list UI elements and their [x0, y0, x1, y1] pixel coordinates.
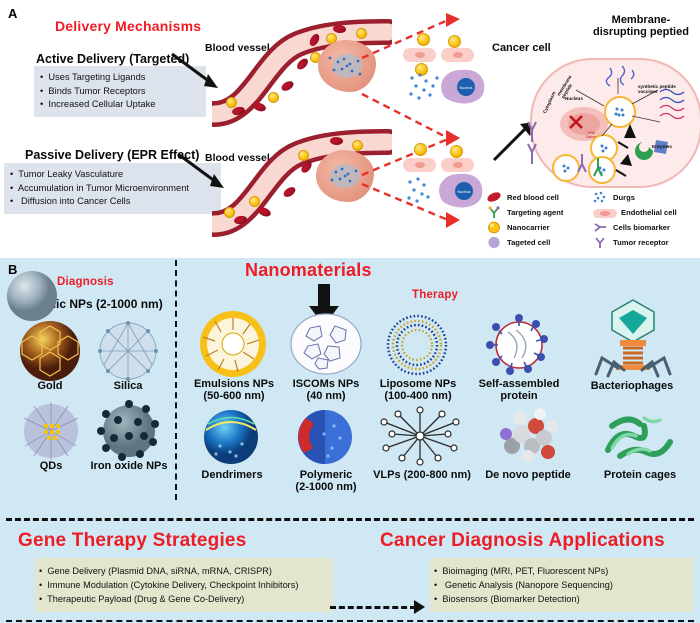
cancer-diagnosis-title: Cancer Diagnosis Applications	[380, 530, 665, 552]
targeted-cell: Nucleus	[436, 62, 488, 108]
red-blood-cell-icon	[486, 191, 504, 204]
svg-text:Nucleus: Nucleus	[458, 190, 471, 194]
bullet-text: Bioimaging (MRI, PET, Fluorescent NPs)	[442, 566, 608, 576]
enzymes-label: Enzymes	[652, 144, 672, 149]
caption-line1: Liposome NPs	[380, 378, 456, 390]
legend-label: Nanocarrier	[507, 223, 550, 232]
inorganic-np-sphere	[6, 270, 58, 327]
nanocarrier	[224, 207, 235, 218]
panel-a: A Delivery Mechanisms Active Delivery (T…	[0, 0, 700, 258]
panel-a-letter: A	[8, 6, 17, 21]
bullet-text: Biosensors (Biomarker Detection)	[442, 594, 579, 604]
legend-item: Durgs	[592, 191, 698, 204]
bullet-text: Tumor Leaky Vasculature	[18, 169, 123, 179]
nanocarrier	[450, 145, 463, 158]
caption-line1: Polymeric	[300, 469, 353, 481]
legend-item: Tageted cell	[486, 236, 592, 249]
gene-therapy-bullets: • Gene Delivery (Plasmid DNA, siRNA, mRN…	[35, 558, 333, 612]
legend-row: Tageted cell Tumor receptor	[486, 235, 698, 250]
bullet-item: • Diffusion into Cancer Cells	[10, 195, 215, 209]
panel-divider	[175, 260, 177, 500]
liposome-np-icon	[380, 314, 454, 381]
legend-label: Cells biomarker	[613, 223, 670, 232]
self-assembled-protein-icon	[486, 314, 552, 381]
nanocarrier	[448, 35, 461, 48]
panel-c: Gene Therapy Strategies • Gene Delivery …	[0, 516, 700, 623]
legend-row: Targeting agent Endothelial cell	[486, 205, 698, 220]
qds-np-caption: QDs	[18, 460, 84, 472]
bullet-item: • Gene Delivery (Plasmid DNA, siRNA, mRN…	[39, 564, 329, 578]
cells-biomarker-icon	[592, 221, 610, 234]
endothelial-cell	[441, 48, 474, 62]
caption-line1: ISCOMs NPs	[293, 378, 360, 390]
iron-oxide-np-icon	[96, 400, 162, 467]
bullet-text: Accumulation in Tumor Microenvironment	[18, 183, 189, 193]
passive-delivery-heading: Passive Delivery (EPR Effect)	[25, 148, 199, 162]
bullet-item: • Genetic Analysis (Nanopore Sequencing)	[434, 578, 689, 592]
connector-arrow-head	[414, 600, 425, 614]
nanocarrier	[298, 150, 309, 161]
self-assembled-protein-caption: Self-assembled protein	[470, 378, 568, 402]
dendrimers-icon	[200, 408, 262, 471]
top-divider	[6, 518, 694, 521]
panel-b: B Diagnosis Therapy Nanomaterials Inorga…	[0, 258, 700, 516]
synthetic-peptide-vaccines-label: synthetic peptide vaccines	[638, 84, 686, 94]
legend-label: Tageted cell	[507, 238, 550, 247]
targeting-agent-icon	[486, 206, 504, 219]
qds-np-icon	[18, 400, 84, 467]
silica-np-icon	[94, 320, 162, 387]
vlps-icon	[378, 404, 462, 473]
legend-item: Tumor receptor	[592, 236, 698, 249]
polymeric-np-icon	[294, 408, 356, 471]
bullet-text: Genetic Analysis (Nanopore Sequencing)	[445, 580, 613, 590]
tumor-receptor-icon	[592, 236, 610, 249]
bacteriophages-icon	[592, 296, 674, 383]
panel-a-legend: Red blood cell Durgs Targeting agent	[486, 190, 698, 250]
legend-row: Red blood cell Durgs	[486, 190, 698, 205]
bullet-text: Diffusion into Cancer Cells	[21, 196, 130, 206]
de-novo-peptide-icon	[492, 404, 566, 471]
cancer-cell-label: Cancer cell	[492, 42, 551, 54]
svg-text:Nucleus: Nucleus	[460, 86, 473, 90]
nanocarrier	[417, 33, 430, 46]
drugs-icon	[592, 191, 610, 204]
active-delivery-heading: Active Delivery (Targeted)	[36, 52, 189, 66]
caption-line2: (2-1000 nm)	[295, 481, 356, 493]
legend-item: Red blood cell	[486, 191, 592, 204]
de-novo-peptide-caption: De novo peptide	[470, 469, 586, 481]
caption-line2: (100-400 nm)	[384, 390, 451, 402]
cancer-diagnosis-bullets: • Bioimaging (MRI, PET, Fluorescent NPs)…	[430, 558, 693, 612]
receptor-pair-icon	[572, 152, 612, 184]
emulsions-np-caption: Emulsions NPs (50-600 nm)	[188, 378, 280, 402]
gold-np-icon	[16, 320, 84, 387]
caption-line1: Self-assembled	[479, 378, 560, 390]
nanocarrier	[414, 143, 427, 156]
legend-label: Endothelial cell	[621, 208, 677, 217]
bullet-text: Increased Cellular Uptake	[48, 99, 155, 109]
iron-oxide-np-caption: Iron oxide NPs	[88, 460, 170, 472]
endothelial-cell	[403, 48, 436, 62]
caption-line1: Emulsions NPs	[194, 378, 274, 390]
legend-label: Targeting agent	[507, 208, 563, 217]
nanomaterials-title: Nanomaterials	[245, 260, 372, 281]
bullet-text: Uses Targeting Ligands	[48, 72, 145, 82]
cancer-cell-diagram: Cytoplasm Nucleus DNA Damage	[530, 58, 700, 188]
bottom-divider	[6, 620, 694, 622]
nanocarrier	[226, 97, 237, 108]
bullet-text: Binds Tumor Receptors	[48, 86, 145, 96]
vlps-caption: VLPs (200-800 nm)	[368, 469, 476, 481]
silica-np-caption: Silica	[94, 380, 162, 392]
endothelial-cell	[403, 158, 436, 172]
iscoms-np-caption: ISCOMs NPs (40 nm)	[284, 378, 368, 402]
bullet-item: • Immune Modulation (Cytokine Delivery, …	[39, 578, 329, 592]
gene-therapy-title: Gene Therapy Strategies	[18, 530, 246, 552]
panel-a-title: Delivery Mechanisms	[55, 18, 201, 34]
caption-line2: (50-600 nm)	[203, 390, 264, 402]
nanocarrier	[268, 92, 279, 103]
bullet-item: • Therapeutic Payload (Drug & Gene Co-De…	[39, 592, 329, 606]
legend-item: Cells biomarker	[592, 221, 698, 234]
figure-root: A Delivery Mechanisms Active Delivery (T…	[0, 0, 700, 623]
cell-spokes	[532, 60, 700, 186]
diagnosis-label: Diagnosis	[57, 276, 114, 288]
legend-row: Nanocarrier Cells biomarker	[486, 220, 698, 235]
legend-item: Endothelial cell	[592, 206, 698, 219]
dendrimers-caption: Dendrimers	[186, 469, 278, 481]
therapy-label: Therapy	[412, 289, 458, 301]
protein-cages-caption: Protein cages	[588, 469, 692, 481]
bullet-text: Immune Modulation (Cytokine Delivery, Ch…	[47, 580, 298, 590]
gold-np-caption: Gold	[16, 380, 84, 392]
caption-line2: protein	[500, 390, 537, 402]
nanocarrier	[249, 196, 260, 207]
membrane-peptide-label: Membrane-disrupting peptied	[585, 14, 697, 38]
endothelial-cell-icon	[592, 206, 618, 219]
connector-dashed-line	[330, 606, 416, 609]
legend-item: Nanocarrier	[486, 221, 592, 234]
bullet-item: • Increased Cellular Uptake	[40, 98, 200, 112]
liposome-np-caption: Liposome NPs (100-400 nm)	[372, 378, 464, 402]
protein-cages-icon	[598, 404, 678, 471]
caption-line2: (40 nm)	[306, 390, 345, 402]
tumor-receptor-icon	[522, 118, 544, 168]
iscoms-np-icon	[288, 312, 364, 381]
bullet-text: Gene Delivery (Plasmid DNA, siRNA, mRNA,…	[47, 566, 272, 576]
targeted-cell: Nucleus	[434, 166, 488, 212]
legend-label: Tumor receptor	[613, 238, 669, 247]
polymeric-np-caption: Polymeric (2-1000 nm)	[282, 469, 370, 493]
bacteriophages-caption: Bacteriophages	[578, 380, 686, 392]
legend-label: Red blood cell	[507, 193, 559, 202]
nanocarrier-icon	[486, 221, 504, 234]
targeted-cell-icon	[486, 236, 504, 249]
legend-label: Durgs	[613, 193, 635, 202]
bullet-item: • Bioimaging (MRI, PET, Fluorescent NPs)	[434, 564, 689, 578]
emulsions-np-icon	[196, 310, 270, 383]
legend-item: Targeting agent	[486, 206, 592, 219]
bullet-text: Therapeutic Payload (Drug & Gene Co-Deli…	[47, 594, 244, 604]
bullet-item: • Biosensors (Biomarker Detection)	[434, 592, 689, 606]
